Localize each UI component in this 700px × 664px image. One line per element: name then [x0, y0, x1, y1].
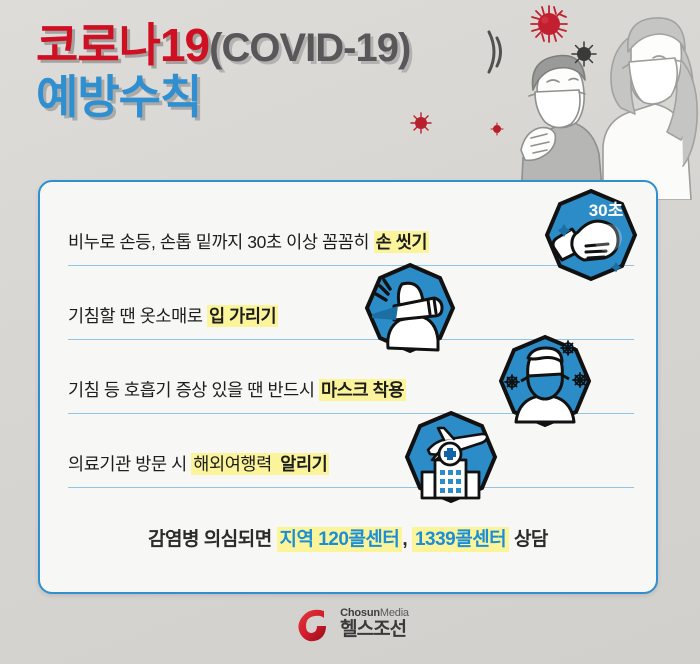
- rule-prefix-2: 기침할 땐 옷소매로: [68, 306, 207, 326]
- title-line-1: 코로나19(COVID-19): [36, 22, 410, 68]
- virus-red-medium-icon: [410, 112, 432, 134]
- rule-text-hand-washing: 비누로 손등, 손톱 밑까지 30초 이상 꼼꼼히 손 씻기: [68, 229, 429, 254]
- rule-text-wear-mask: 기침 등 호흡기 증상 있을 땐 반드시 마스크 착용: [68, 377, 406, 402]
- rule-highlight-2: 입 가리기: [207, 305, 278, 327]
- rule-highlight-4-normal: 해외여행력: [191, 453, 278, 475]
- rule-separator-4: [68, 487, 634, 488]
- infographic-poster: 코로나19(COVID-19) 예방수칙 비누로 손등, 손톱 밑까지 30초 …: [0, 0, 700, 664]
- virus-red-large-icon: [529, 4, 569, 44]
- rules-list: 비누로 손등, 손톱 밑까지 30초 이상 꼼꼼히 손 씻기 기침할 땐 옷소매…: [40, 182, 656, 592]
- rule-prefix-1: 비누로 손등, 손톱 밑까지 30초 이상 꼼꼼히: [68, 232, 374, 252]
- title-subtitle: 예방수칙: [36, 71, 201, 123]
- virus-red-small-icon: [490, 122, 504, 136]
- logo-wordmark: ChosunMedia 헬스조선: [340, 608, 409, 639]
- title-english: (COVID-19): [209, 26, 410, 70]
- prevention-rules-card: 비누로 손등, 손톱 밑까지 30초 이상 꼼꼼히 손 씻기 기침할 땐 옷소매…: [38, 180, 658, 594]
- page-title: 코로나19(COVID-19) 예방수칙: [36, 22, 410, 120]
- cough-into-sleeve-icon: [358, 262, 462, 366]
- hand-washing-icon: 30초: [538, 188, 644, 294]
- callout-prefix: 감염병 의심되면: [148, 529, 276, 550]
- rule-text-report-travel: 의료기관 방문 시 해외여행력 알리기: [68, 451, 329, 476]
- masked-people-illustration: [485, 0, 700, 200]
- rule-prefix-3: 기침 등 호흡기 증상 있을 땐 반드시: [68, 380, 319, 400]
- logo-brand-chosun: Chosun: [340, 607, 380, 619]
- footer-logo: ChosunMedia 헬스조선: [0, 604, 700, 644]
- callout-center-1: 지역 120콜센터: [277, 527, 403, 552]
- callout-separator: ,: [402, 529, 412, 550]
- hand-washing-badge-text: 30초: [589, 201, 624, 220]
- logo-brand-korean: 헬스조선: [340, 620, 409, 640]
- title-korean: 코로나19: [36, 19, 209, 71]
- rule-highlight-3: 마스크 착용: [319, 379, 406, 401]
- wear-mask-icon: [492, 334, 598, 440]
- travel-history-hospital-icon: [398, 410, 504, 516]
- callout-suffix: 상담: [509, 529, 548, 550]
- rule-text-cover-mouth: 기침할 땐 옷소매로 입 가리기: [68, 303, 278, 328]
- callout-line: 감염병 의심되면 지역 120콜센터, 1339콜센터 상담: [40, 524, 656, 551]
- rule-highlight-1: 손 씻기: [374, 231, 430, 253]
- chosun-c-swoosh-icon: [291, 604, 331, 644]
- callout-center-2: 1339콜센터: [412, 527, 509, 552]
- virus-dark-medium-icon: [571, 41, 597, 67]
- logo-brand-media: Media: [380, 607, 409, 619]
- title-line-2: 예방수칙: [36, 74, 410, 120]
- rule-highlight-4-bold: 알리기: [278, 453, 329, 475]
- rule-prefix-4: 의료기관 방문 시: [68, 454, 191, 474]
